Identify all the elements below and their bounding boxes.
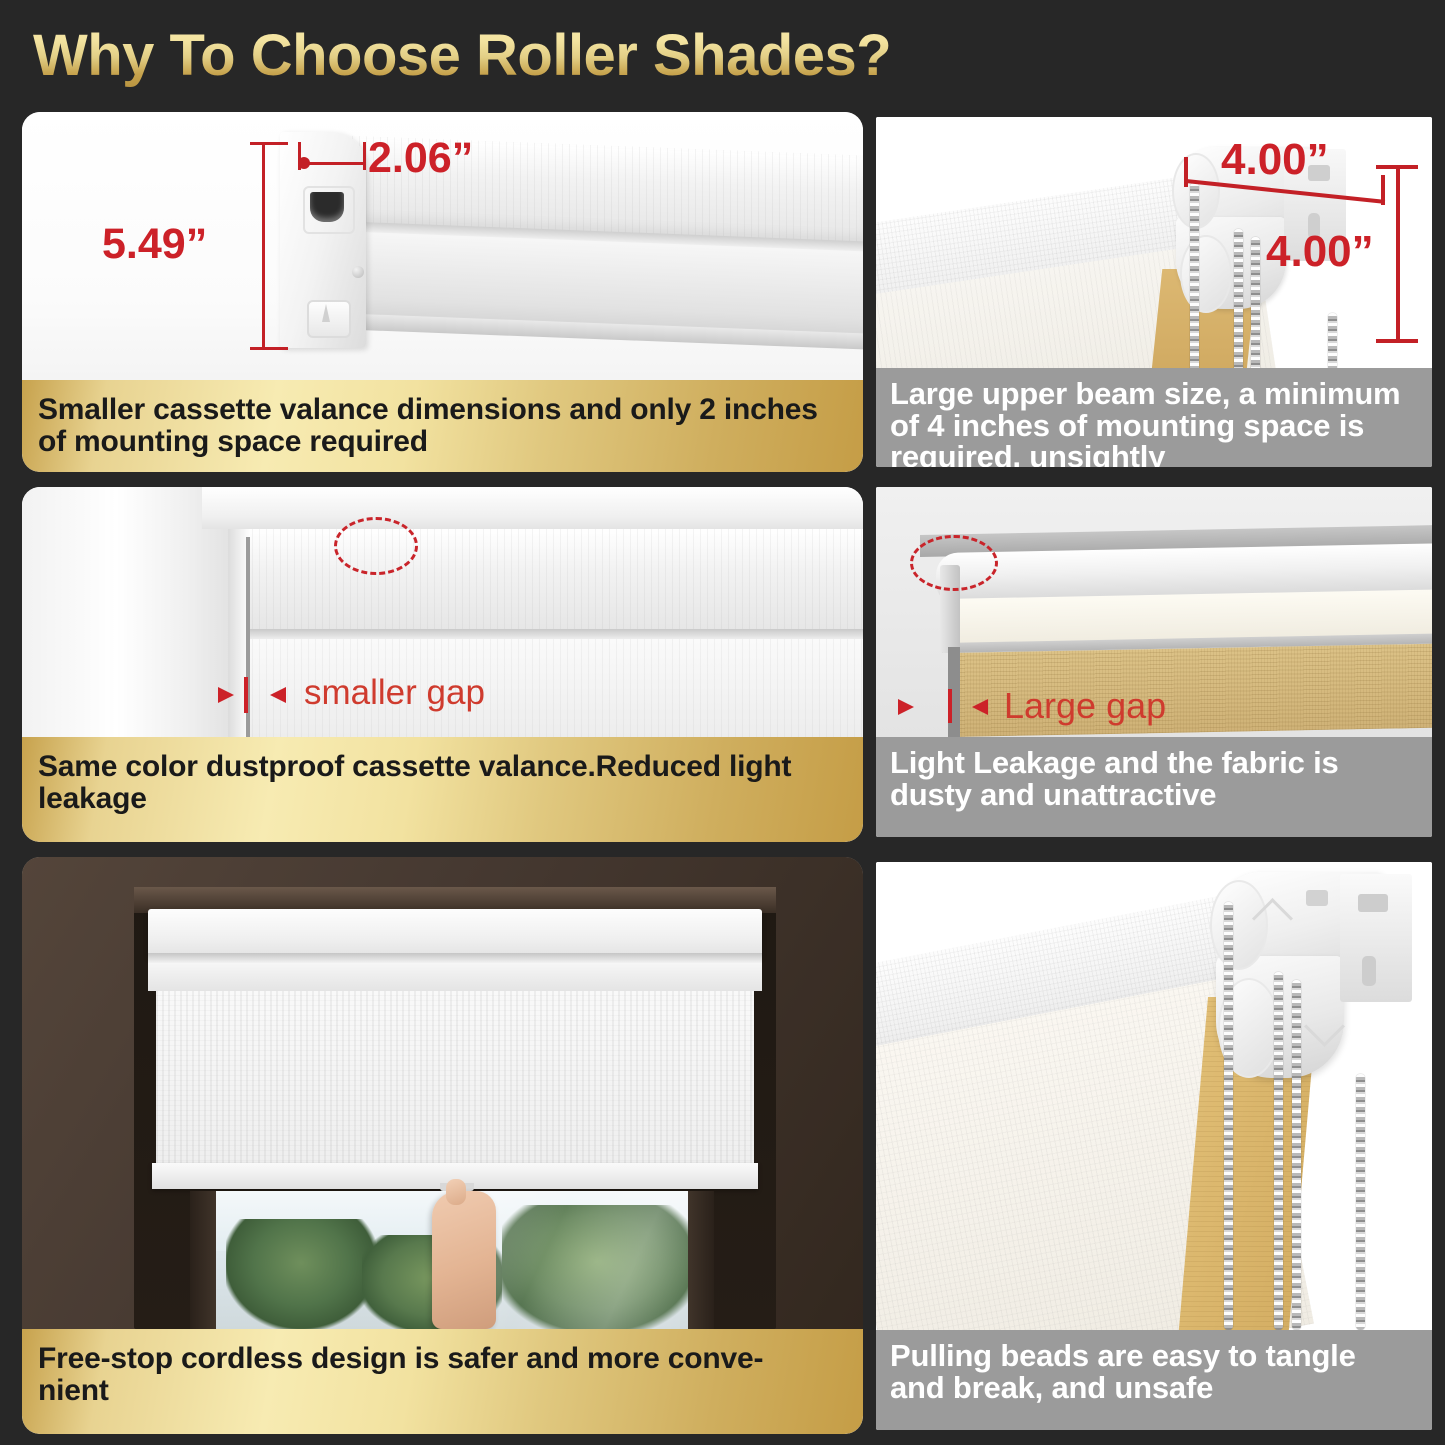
bracket-slot-lower	[1362, 956, 1376, 986]
valance-divider	[250, 629, 863, 639]
gap-arrow-right	[972, 699, 988, 715]
gap-arrow-left	[218, 687, 234, 703]
beam-width-label: 4.00”	[1221, 135, 1329, 185]
caption-text: Pulling beads are easy to tangle and bre…	[890, 1340, 1418, 1403]
caption-good-smaller-gap: Same color dustproof cassette valance.Re…	[22, 737, 863, 842]
bead-chain-4	[1328, 313, 1337, 375]
panel-bad-large-beam: 4.00” 4.00” Large upper beam size, a min…	[876, 117, 1432, 467]
width-dimension-label: 2.06”	[368, 134, 473, 183]
beam-width-tick-left	[1184, 157, 1188, 187]
shade-fabric	[156, 991, 754, 1171]
caption-bad-pull-beads: Pulling beads are easy to tangle and bre…	[876, 1330, 1432, 1430]
hand	[432, 1191, 496, 1329]
height-dimension-label: 5.49”	[102, 220, 207, 269]
cassette-valance-photo: 2.06” 5.49”	[22, 112, 863, 380]
infographic-page: Why To Choose Roller Shades? 2.06”	[0, 0, 1445, 1445]
beam-height-tick-top	[1376, 165, 1418, 169]
pull-beads-photo	[876, 862, 1432, 1330]
caption-text: Large upper beam size, a minimum of 4 in…	[890, 378, 1418, 467]
caption-bad-large-beam: Large upper beam size, a minimum of 4 in…	[876, 368, 1432, 467]
page-title: Why To Choose Roller Shades?	[33, 22, 891, 89]
gap-arrow-left	[898, 699, 914, 715]
panel-good-smaller-gap: smaller gap Same color dustproof cassett…	[22, 487, 863, 842]
cordless-window-photo	[22, 857, 863, 1329]
height-dimension-tick-bottom	[250, 347, 288, 350]
bracket-slot-upper	[1358, 894, 1388, 912]
caption-text: Light Leakage and the fabric is dusty an…	[890, 747, 1418, 810]
window-frame-left	[22, 487, 232, 737]
beam-width-tick-right	[1381, 175, 1385, 205]
bead-chain-2	[1234, 229, 1243, 375]
valance-lower-band	[148, 963, 762, 991]
bead-chain-1	[1190, 183, 1199, 375]
bead-chain-3	[1251, 237, 1260, 375]
bead-chain-1	[1224, 902, 1233, 1330]
bracket-slot-housing	[303, 186, 355, 234]
caption-text-line1: Free-stop cordless design is safer and m…	[38, 1343, 763, 1375]
width-dimension-tick-right	[363, 142, 366, 170]
bracket-slot-mid	[1306, 890, 1328, 906]
panel-bad-pull-beads: Pulling beads are easy to tangle and bre…	[876, 862, 1432, 1430]
panel-good-cassette-dimensions: 2.06” 5.49” Smaller cassette valance dim…	[22, 112, 863, 472]
large-beam-photo: 4.00” 4.00”	[876, 117, 1432, 375]
gap-callout-label: smaller gap	[304, 673, 485, 713]
caption-text: Smaller cassette valance dimensions and …	[38, 394, 847, 459]
smaller-gap-photo: smaller gap	[22, 487, 863, 737]
valance-groove	[148, 953, 762, 963]
panel-bad-light-leakage: Large gap Light Leakage and the fabric i…	[876, 487, 1432, 837]
bead-chain-2	[1274, 972, 1283, 1330]
gap-tick	[244, 677, 248, 713]
bracket-disc-end-lower	[1180, 235, 1232, 313]
beam-height-label: 4.00”	[1266, 227, 1374, 277]
caption-bad-light-leakage: Light Leakage and the fabric is dusty an…	[876, 737, 1432, 837]
panel-good-cordless: Free-stop cordless design is safer and m…	[22, 857, 863, 1434]
gap-highlight-ellipse	[910, 535, 998, 591]
window-frame-top	[202, 487, 863, 529]
bead-chain-4	[1356, 1074, 1365, 1330]
gap-highlight-circle	[334, 517, 418, 575]
beam-height-line	[1396, 165, 1400, 343]
cassette-valance	[148, 909, 762, 957]
beam-height-tick-bottom	[1376, 339, 1418, 343]
caption-text: Same color dustproof cassette valance.Re…	[38, 751, 847, 816]
height-dimension-tick-top	[250, 142, 288, 145]
caption-good-cassette-dimensions: Smaller cassette valance dimensions and …	[22, 380, 863, 472]
screw-icon	[352, 266, 364, 278]
caption-good-cordless: Free-stop cordless design is safer and m…	[22, 1329, 863, 1434]
glass-reflection	[462, 1191, 692, 1329]
bead-chain-3	[1292, 980, 1301, 1330]
height-dimension-line	[262, 142, 265, 350]
caption-text-line2: nient	[38, 1375, 109, 1407]
gap-callout-label: Large gap	[1004, 685, 1166, 727]
gap-arrow-right	[270, 687, 286, 703]
width-dimension-dot	[298, 157, 310, 169]
window-sash-right	[688, 1191, 714, 1329]
light-leakage-photo: Large gap	[876, 487, 1432, 737]
gap-tick	[948, 689, 952, 723]
window-sash-left	[190, 1191, 216, 1329]
tree-left	[226, 1219, 376, 1329]
finger-pinch	[446, 1179, 466, 1205]
